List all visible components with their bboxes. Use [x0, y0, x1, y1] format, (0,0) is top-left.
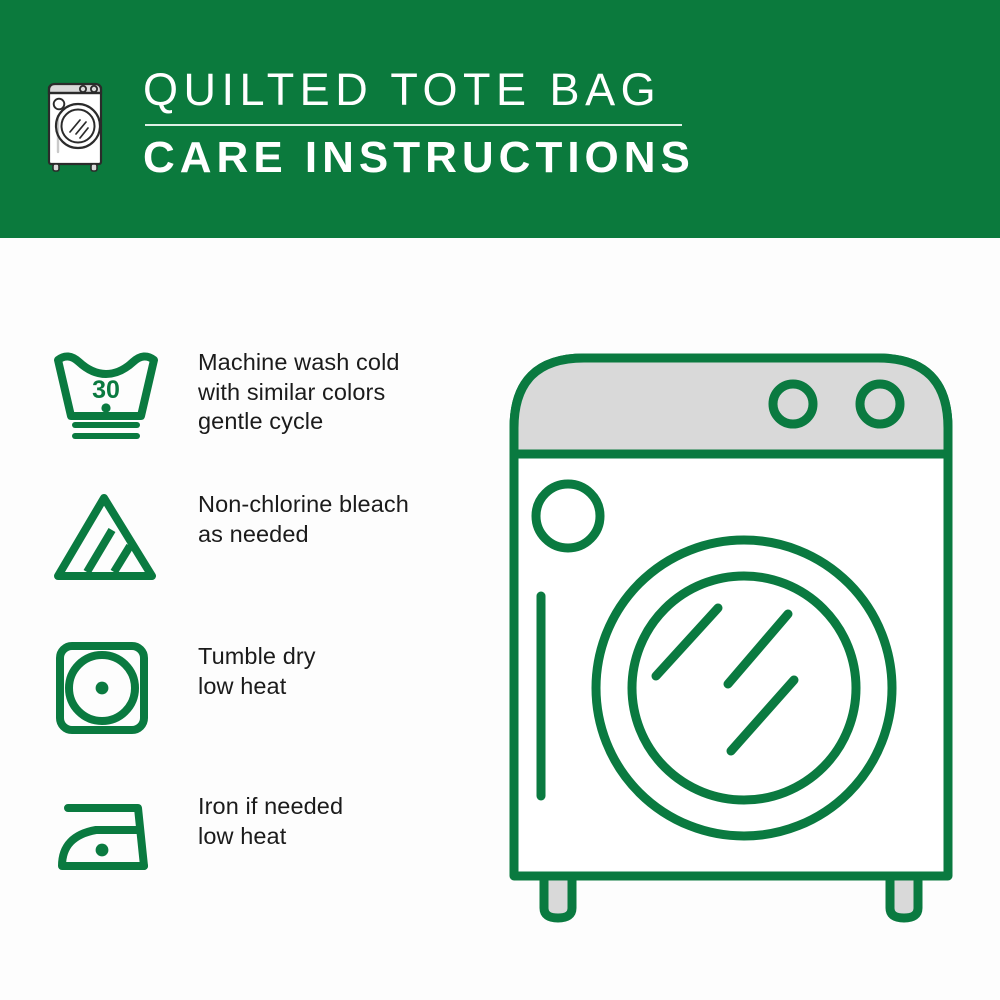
care-item-label: Tumble dry low heat: [160, 640, 316, 701]
care-instructions-list: 30 Machine wash cold with similar colors…: [0, 238, 480, 1000]
care-item-iron: Iron if needed low heat: [52, 790, 343, 886]
header-text-block: QUILTED TOTE BAG CARE INSTRUCTIONS: [143, 62, 843, 186]
title-divider: [145, 124, 682, 126]
care-item-machine-wash: 30 Machine wash cold with similar colors…: [52, 346, 400, 442]
washing-machine-icon: [44, 66, 106, 172]
wash-temperature-text: 30: [92, 376, 120, 404]
page-subtitle: CARE INSTRUCTIONS: [143, 130, 843, 186]
care-instructions-page: QUILTED TOTE BAG CARE INSTRUCTIONS 30: [0, 0, 1000, 1000]
non-chlorine-bleach-icon: [52, 488, 160, 584]
machine-wash-30-icon: 30: [52, 346, 160, 442]
care-item-label: Iron if needed low heat: [160, 790, 343, 851]
header-banner: QUILTED TOTE BAG CARE INSTRUCTIONS: [0, 0, 1000, 238]
iron-low-heat-icon: [52, 790, 160, 886]
care-item-tumble-dry: Tumble dry low heat: [52, 640, 316, 736]
care-item-bleach: Non-chlorine bleach as needed: [52, 488, 409, 584]
care-item-label: Machine wash cold with similar colors ge…: [160, 346, 400, 437]
care-item-label: Non-chlorine bleach as needed: [160, 488, 409, 549]
front-load-washing-machine-illustration: [496, 336, 966, 926]
page-title: QUILTED TOTE BAG: [143, 62, 843, 118]
tumble-dry-low-icon: [52, 640, 160, 736]
